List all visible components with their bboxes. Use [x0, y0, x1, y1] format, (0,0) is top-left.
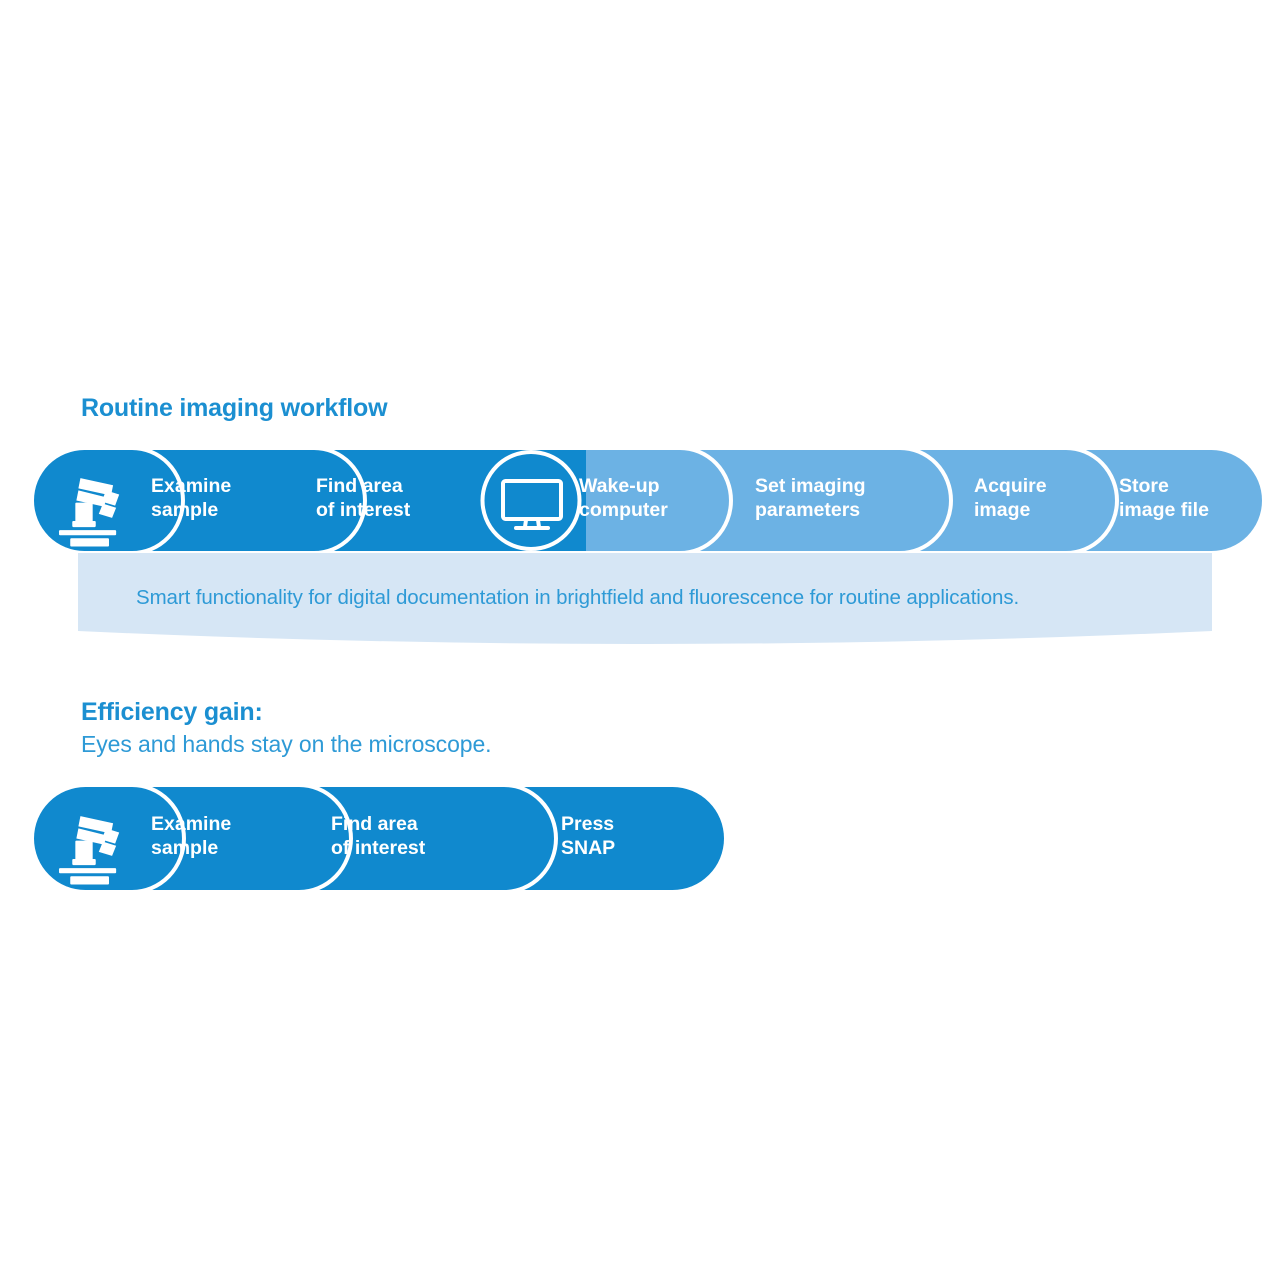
chain-light-fill [586, 450, 1262, 551]
eff-chain-fill [34, 787, 724, 890]
diagram-canvas: Routine imaging workflow [0, 0, 1280, 1280]
routine-workflow-title: Routine imaging workflow [81, 394, 387, 423]
efficiency-gain-title: Efficiency gain: [81, 698, 263, 727]
caption-text: Smart functionality for digital document… [136, 586, 1196, 610]
efficiency-gain-subtitle: Eyes and hands stay on the microscope. [81, 731, 491, 758]
routine-chain-graphic [34, 450, 1262, 551]
routine-workflow-chain: Examine sample Find area of interest Wak… [34, 450, 1262, 551]
efficiency-gain-chain: Examine sample Find area of interest Pre… [34, 787, 724, 890]
efficiency-chain-graphic [34, 787, 724, 890]
